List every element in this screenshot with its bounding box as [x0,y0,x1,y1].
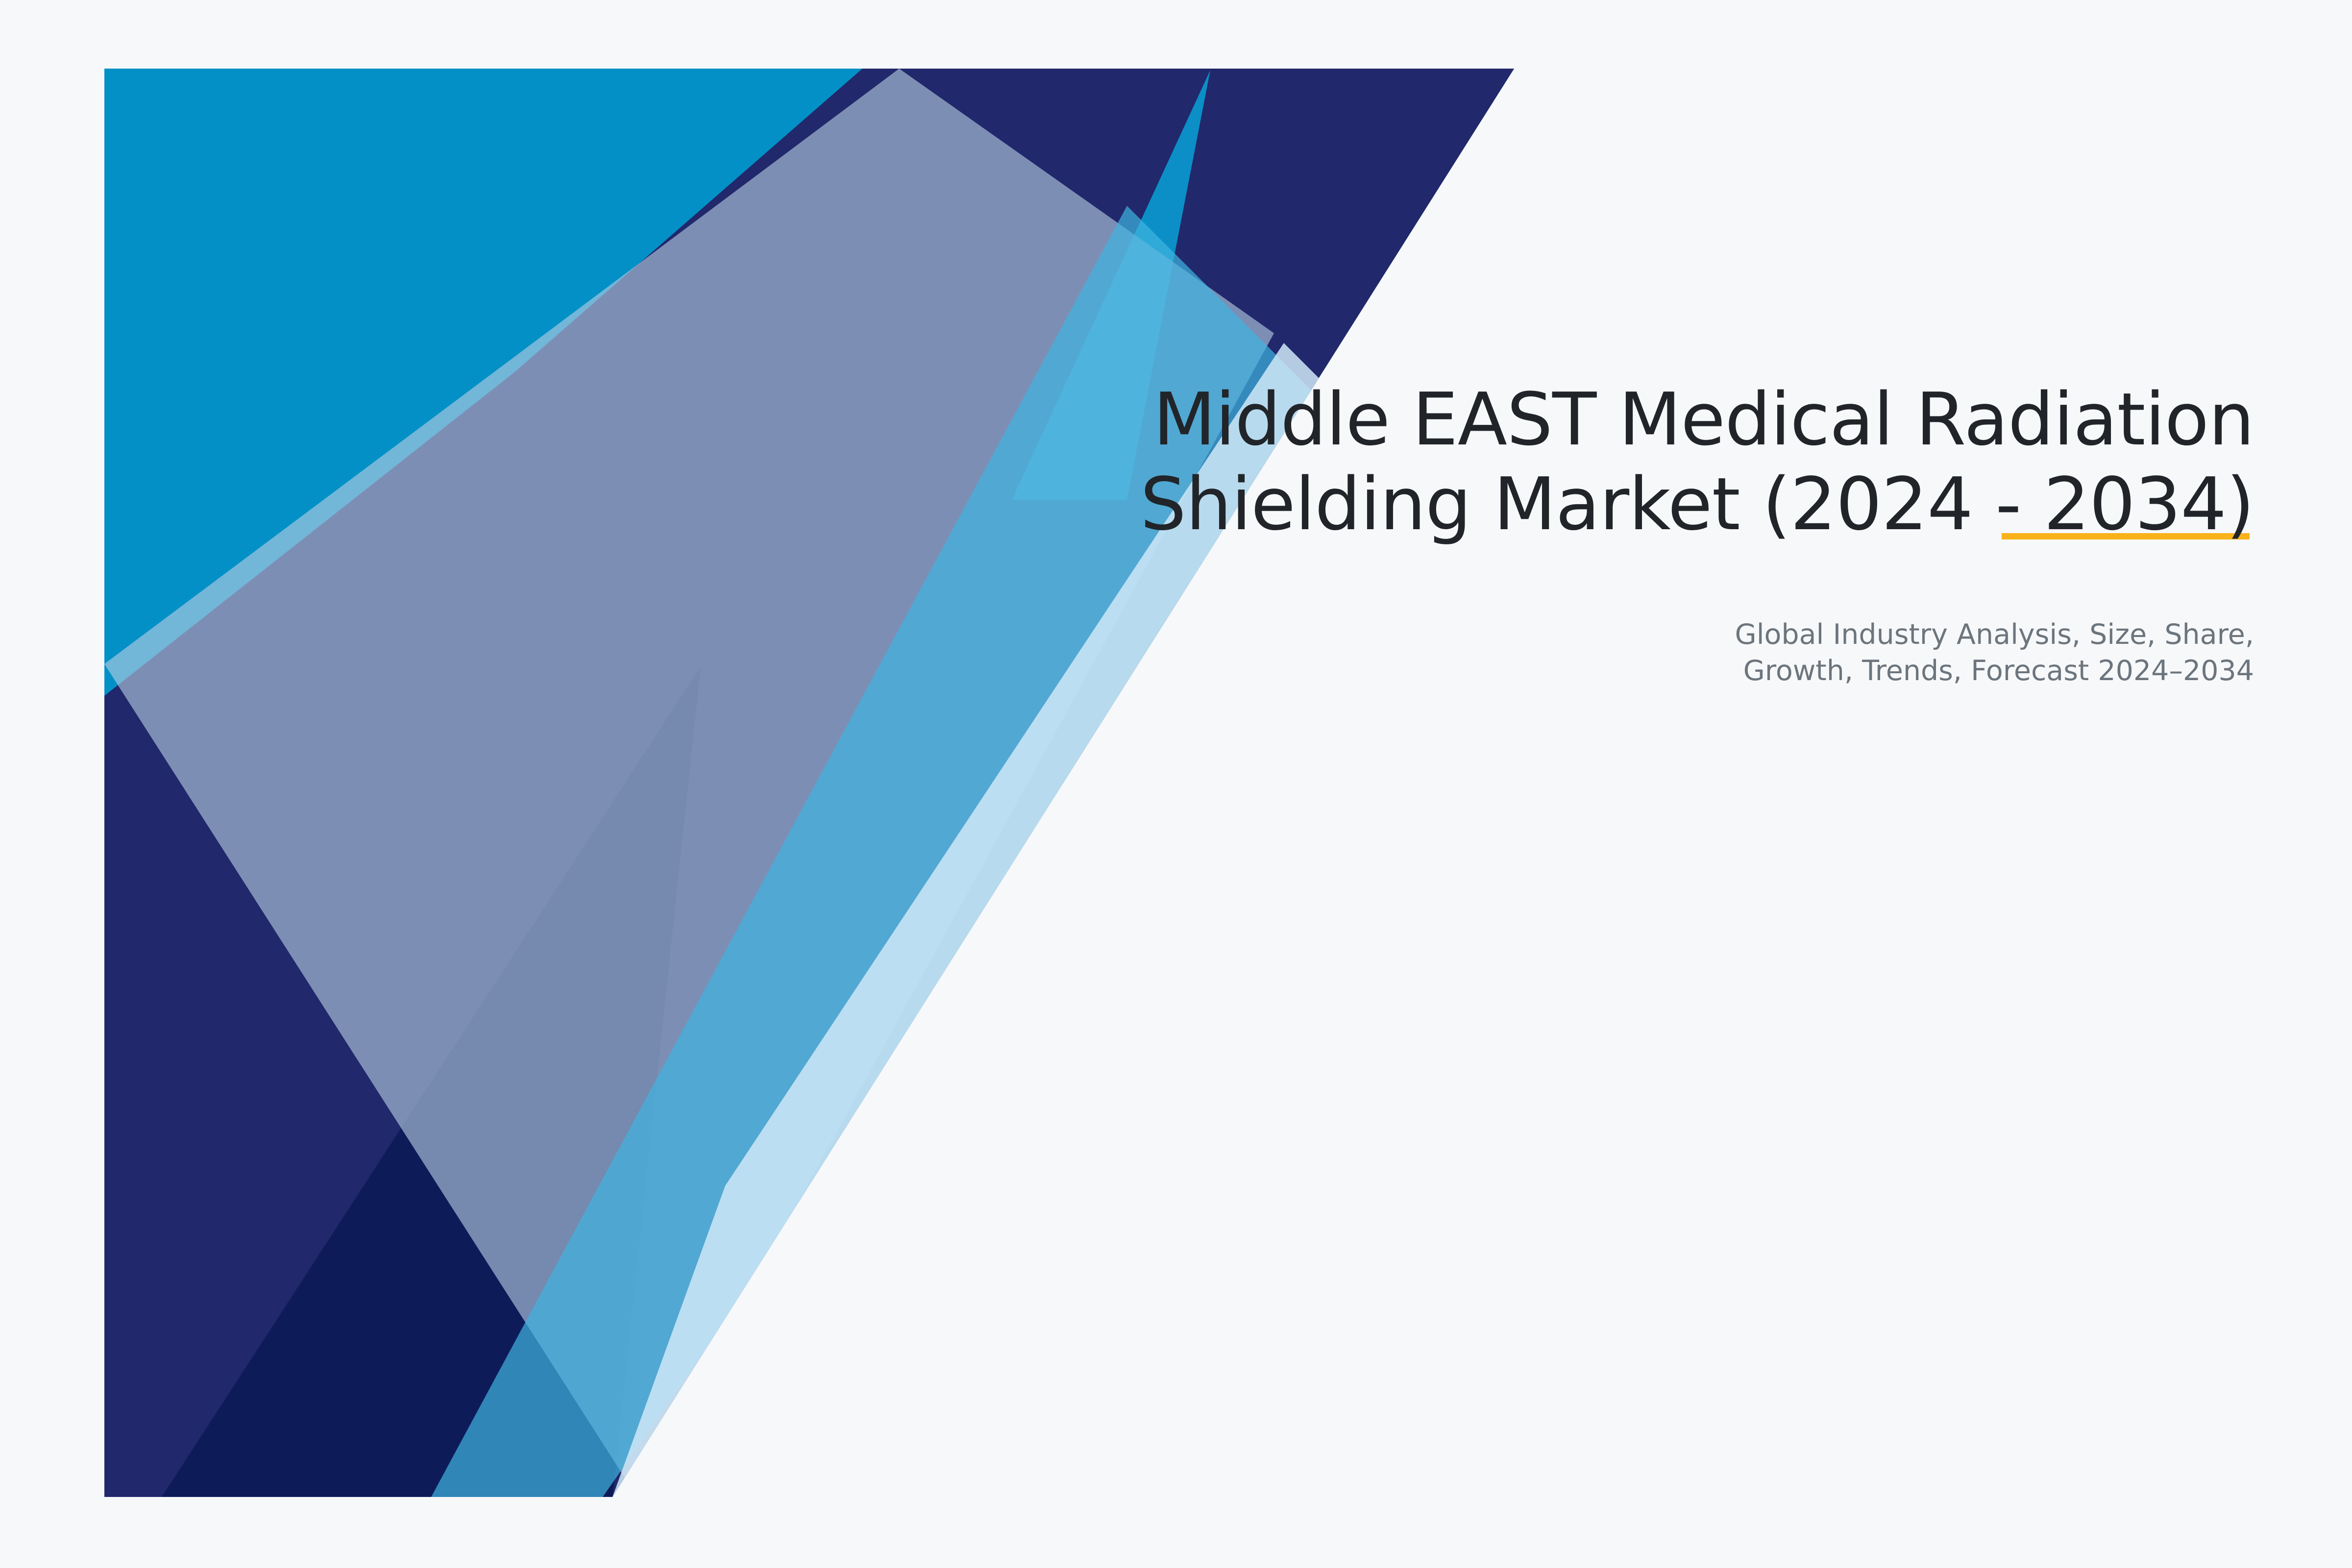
title-wrap: Middle EAST Medical Radiation Shielding … [1068,377,2254,547]
cover-text-block: Middle EAST Medical Radiation Shielding … [1068,377,2254,689]
page-subtitle: Global Industry Analysis, Size, Share, G… [1068,547,2254,689]
abstract-polygon-cover-art [0,0,2352,1568]
page-title: Middle EAST Medical Radiation Shielding … [1068,377,2254,547]
cover-page: Middle EAST Medical Radiation Shielding … [0,0,2352,1568]
